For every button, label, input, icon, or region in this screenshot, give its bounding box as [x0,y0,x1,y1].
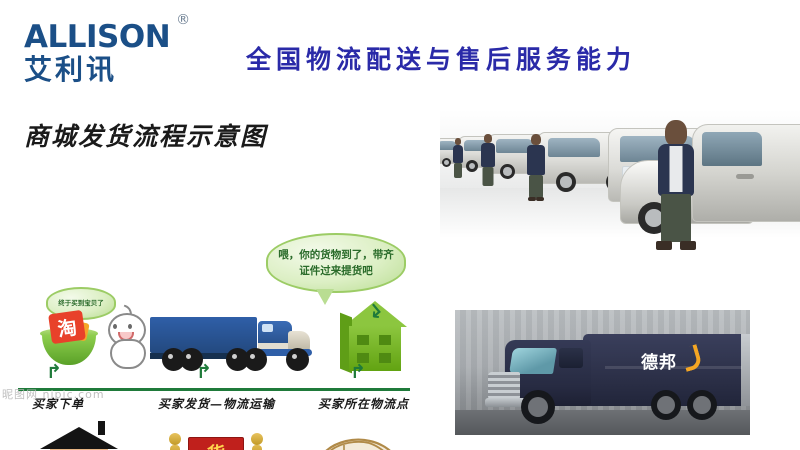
truck-wheel [687,390,717,420]
staff-member [526,134,546,198]
staff-member [480,134,496,186]
flow-caption-local-hub: 买家所在物流点 [318,395,409,412]
service-vehicle-fleet-photo [440,110,800,260]
baby-doodle-icon [100,313,152,367]
fleet-vehicle-wheel [500,164,515,179]
fleet-vehicle-window [548,138,600,157]
logo-english-text: ALLISON [24,19,170,55]
movers-carrying-box-icon: 货 [162,427,272,450]
truck-wheel [521,390,555,424]
car-outline-icon [300,425,404,450]
brand-logo: ALLISON ® 艾利讯 [24,22,224,84]
truck-grille [488,372,520,400]
delivery-notice-speech-bubble: 喂，你的货物到了，带齐证件过来提货吧 [266,233,406,293]
truck-wheel [651,390,681,420]
vehicle-door-handle [736,174,754,179]
flow-arrow-icon: ↱ [46,363,62,382]
bubble-tail [316,289,334,305]
staff-shirt [670,146,683,192]
fleet-vehicle-window [702,132,762,166]
cargo-box-label: 货 [207,440,225,450]
logo-chinese-text: 艾利讯 [24,55,224,84]
brown-house-icon [40,427,118,450]
watermark: 昵图网 nipic.com [2,386,262,408]
logo-english-row: ALLISON ® [24,22,170,53]
truck-trailer-edge [741,334,750,406]
deppon-logistics-truck-photo: 德邦 [455,310,750,435]
flow-arrow-icon: ↱ [350,363,366,382]
flow-diagram-title: 商城发货流程示意图 [24,117,267,153]
slide-canvas: ALLISON ® 艾利讯 全国物流配送与售后服务能力 商城发货流程示意图 喂，… [0,0,800,450]
page-title: 全国物流配送与售后服务能力 [246,40,636,76]
fleet-vehicle-wheel [442,158,451,167]
staff-member [452,138,464,178]
truck-door-window [559,348,583,368]
fleet-vehicle-wheel [556,172,576,192]
flow-arrow-icon: ↱ [196,363,212,382]
shopping-basket-icon: 淘 [40,310,98,365]
fleet-vehicle-wheel [466,160,478,172]
shipping-flow-diagram: 商城发货流程示意图 喂，你的货物到了，带齐证件过来提货吧 终于买到宝贝了 淘 [0,105,430,425]
truck-windshield [509,348,557,374]
staff-member-foreground [655,120,697,250]
deppon-logo-text: 德邦 [641,348,677,373]
semi-truck-icon [150,315,315,375]
delivery-notice-text: 喂，你的货物到了，带齐证件过来提货吧 [276,247,396,280]
buyer-happy-text: 终于买到宝贝了 [58,299,104,309]
registered-trademark-icon: ® [176,12,190,28]
